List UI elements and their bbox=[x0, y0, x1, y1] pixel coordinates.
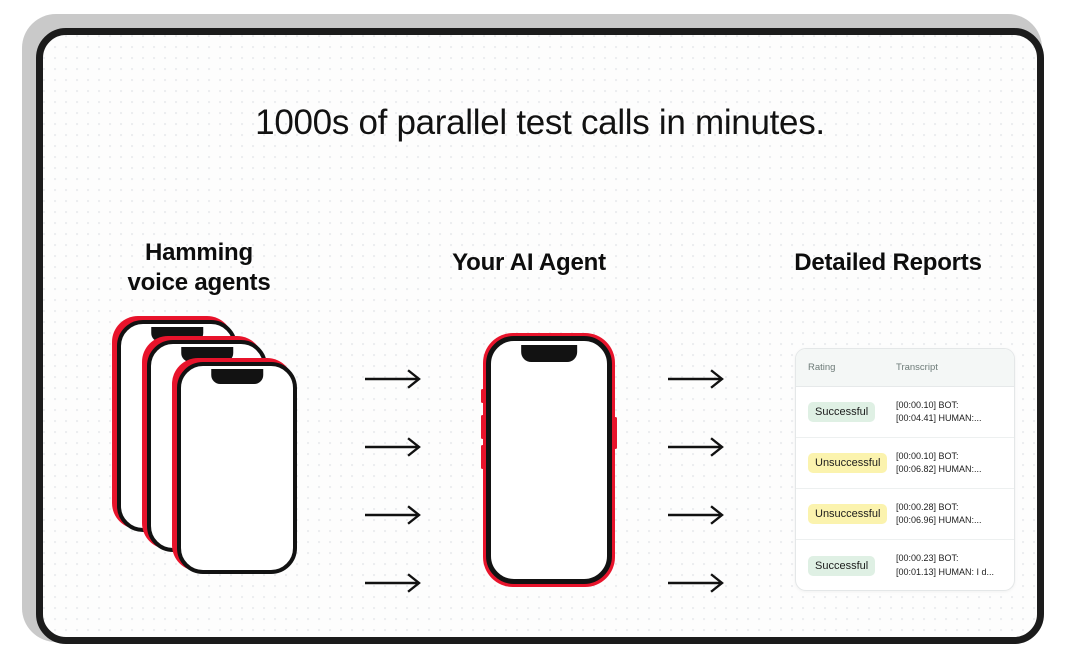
status-badge: Successful bbox=[808, 402, 875, 422]
transcript-line-2: [00:01.13] HUMAN: I d... bbox=[896, 566, 1014, 580]
phone-volume-up-button bbox=[481, 415, 484, 439]
status-badge: Unsuccessful bbox=[808, 453, 887, 473]
phone-stack-graphic bbox=[111, 318, 321, 580]
transcript-line-1: [00:00.23] BOT: bbox=[896, 552, 1014, 566]
rating-cell: Successful bbox=[796, 556, 892, 576]
transcript-line-2: [00:06.82] HUMAN:... bbox=[896, 463, 1014, 477]
rating-cell: Successful bbox=[796, 402, 892, 422]
column-header-rating: Rating bbox=[796, 362, 892, 373]
transcript-cell: [00:00.10] BOT: [00:06.82] HUMAN:... bbox=[892, 450, 1014, 477]
table-row[interactable]: Successful [00:00.23] BOT: [00:01.13] HU… bbox=[796, 540, 1014, 591]
rating-cell: Unsuccessful bbox=[796, 453, 892, 473]
table-row[interactable]: Unsuccessful [00:00.10] BOT: [00:06.82] … bbox=[796, 438, 1014, 489]
table-row[interactable]: Unsuccessful [00:00.28] BOT: [00:06.96] … bbox=[796, 489, 1014, 540]
arrow-right-icon bbox=[363, 437, 425, 457]
column-title-line-1: Hamming bbox=[81, 238, 317, 268]
arrow-right-icon bbox=[363, 505, 425, 525]
transcript-line-1: [00:00.10] BOT: bbox=[896, 399, 1014, 413]
arrow-group-left bbox=[363, 369, 443, 641]
phone-mockup-center bbox=[483, 333, 615, 587]
arrow-right-icon bbox=[363, 369, 425, 389]
phone-power-button bbox=[614, 417, 617, 449]
phone-frame bbox=[486, 336, 612, 584]
column-title-line-2: voice agents bbox=[81, 268, 317, 298]
table-row[interactable]: Successful [00:00.10] BOT: [00:04.41] HU… bbox=[796, 387, 1014, 438]
column-title-your-ai-agent: Your AI Agent bbox=[421, 248, 637, 278]
slide-canvas: 1000s of parallel test calls in minutes.… bbox=[0, 0, 1080, 672]
status-badge: Successful bbox=[808, 556, 875, 576]
report-table: Rating Transcript Successful [00:00.10] … bbox=[795, 348, 1015, 591]
phone-mockup-3 bbox=[177, 362, 297, 574]
transcript-cell: [00:00.28] BOT: [00:06.96] HUMAN:... bbox=[892, 501, 1014, 528]
transcript-line-2: [00:04.41] HUMAN:... bbox=[896, 412, 1014, 426]
content-card: 1000s of parallel test calls in minutes.… bbox=[36, 28, 1044, 644]
phone-mute-switch bbox=[481, 389, 484, 403]
page-title: 1000s of parallel test calls in minutes. bbox=[43, 103, 1037, 143]
table-header-row: Rating Transcript bbox=[796, 349, 1014, 387]
column-header-transcript: Transcript bbox=[892, 362, 1014, 373]
phone-volume-down-button bbox=[481, 445, 484, 469]
arrow-right-icon bbox=[666, 437, 728, 457]
transcript-cell: [00:00.10] BOT: [00:04.41] HUMAN:... bbox=[892, 399, 1014, 426]
transcript-line-2: [00:06.96] HUMAN:... bbox=[896, 514, 1014, 528]
arrow-right-icon bbox=[666, 369, 728, 389]
column-title-hamming-voice-agents: Hamming voice agents bbox=[81, 238, 317, 298]
status-badge: Unsuccessful bbox=[808, 504, 887, 524]
transcript-line-1: [00:00.28] BOT: bbox=[896, 501, 1014, 515]
transcript-line-1: [00:00.10] BOT: bbox=[896, 450, 1014, 464]
phone-notch bbox=[521, 345, 577, 362]
arrow-right-icon bbox=[363, 573, 425, 593]
arrow-group-right bbox=[666, 369, 746, 641]
arrow-right-icon bbox=[666, 505, 728, 525]
phone-frame bbox=[177, 362, 297, 574]
phone-notch bbox=[211, 369, 263, 384]
column-title-detailed-reports: Detailed Reports bbox=[743, 248, 1033, 278]
transcript-cell: [00:00.23] BOT: [00:01.13] HUMAN: I d... bbox=[892, 552, 1014, 579]
rating-cell: Unsuccessful bbox=[796, 504, 892, 524]
arrow-right-icon bbox=[666, 573, 728, 593]
